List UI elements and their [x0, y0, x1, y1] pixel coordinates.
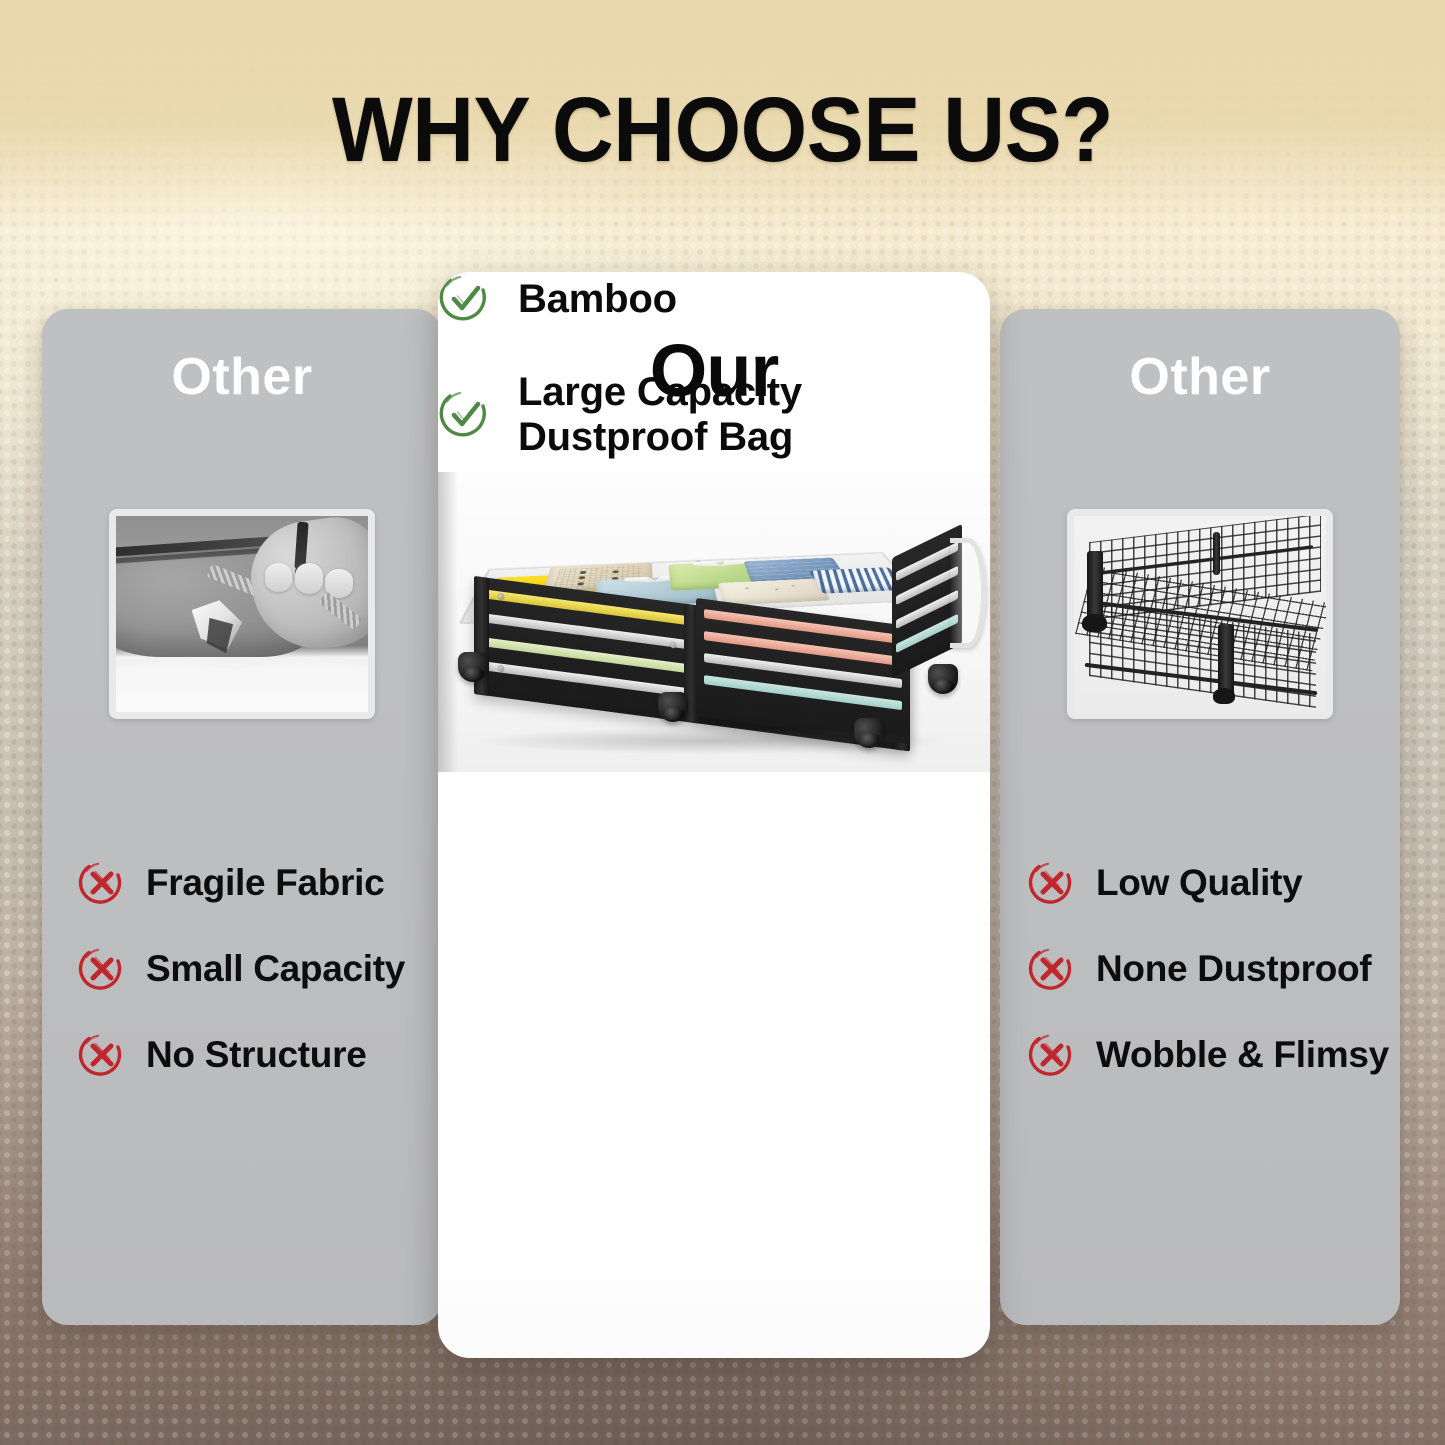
cloth-cream: [717, 579, 831, 606]
comparison-panel-center: Our: [438, 272, 990, 1358]
list-item-label: Low Quality: [1096, 862, 1302, 904]
caster-wheel: [928, 664, 958, 694]
list-item-label: Fragile Fabric: [146, 862, 384, 904]
list-item-label: Bamboo: [518, 277, 677, 322]
comparison-panel-right: Other: [1000, 309, 1400, 1325]
caster-wheel: [458, 652, 488, 682]
cross-circle-icon: [78, 859, 126, 907]
cross-circle-icon: [1028, 945, 1076, 993]
caster-wheel: [658, 692, 688, 722]
cross-circle-icon: [1028, 859, 1076, 907]
storage-organizer-illustration: [446, 480, 982, 766]
comparison-panel-left: Other: [42, 309, 442, 1325]
wire-basket-photo: [1074, 516, 1326, 712]
dustproof-bag-handle: [950, 538, 986, 648]
cross-circle-icon: [78, 1031, 126, 1079]
panel-title-left: Other: [42, 347, 442, 407]
list-item-label: Small Capacity: [146, 948, 405, 990]
list-item-label: Wobble & Flimsy: [1096, 1034, 1389, 1076]
page-title: WHY CHOOSE US?: [51, 84, 1395, 176]
list-item: None Dustproof: [1028, 945, 1368, 993]
photo-frame-right: [1067, 509, 1333, 719]
list-item-label: No Structure: [146, 1034, 366, 1076]
panel-title-center: Our: [438, 328, 990, 413]
panel-title-right: Other: [1000, 347, 1400, 407]
list-item: Wobble & Flimsy: [1028, 1031, 1368, 1079]
feature-list-left: Fragile Fabric Small Capacity: [78, 859, 418, 1117]
list-item: No Structure: [78, 1031, 418, 1079]
list-item: Bamboo: [438, 272, 908, 326]
fabric-bag-photo: [116, 516, 368, 712]
list-item: Fragile Fabric: [78, 859, 418, 907]
feature-list-right: Low Quality None Dustproof: [1028, 859, 1368, 1117]
list-item-label: None Dustproof: [1096, 948, 1371, 990]
list-item: Small Capacity: [78, 945, 418, 993]
infographic-canvas: WHY CHOOSE US? Other: [0, 0, 1445, 1445]
list-item: Low Quality: [1028, 859, 1368, 907]
photo-frame-left: [109, 509, 375, 719]
cross-circle-icon: [78, 945, 126, 993]
cross-circle-icon: [1028, 1031, 1076, 1079]
product-photo-center: [438, 472, 990, 772]
check-circle-icon: [438, 272, 492, 326]
